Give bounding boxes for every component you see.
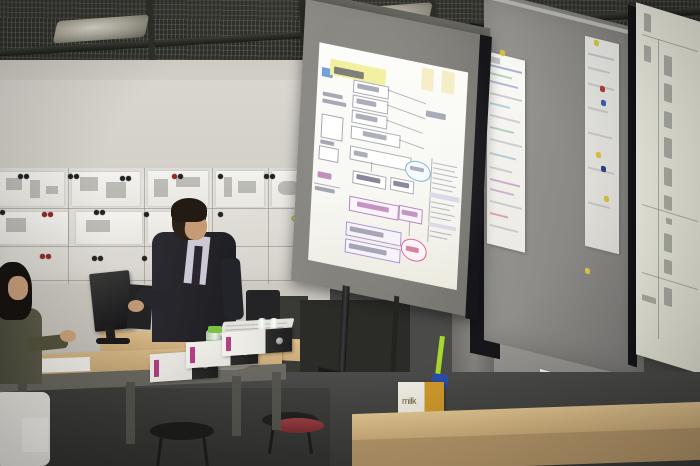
magnet-blue xyxy=(601,99,606,106)
magnet xyxy=(18,174,23,179)
magnet-yellow xyxy=(585,267,590,274)
magnet xyxy=(264,174,269,179)
slide-left-box xyxy=(318,145,339,163)
magnet xyxy=(0,210,5,215)
projection-screen xyxy=(290,0,494,337)
callout-leader xyxy=(408,222,410,236)
magnet xyxy=(68,174,73,179)
presenter-hand xyxy=(128,300,144,312)
magnet xyxy=(218,174,223,179)
seated-participant-face xyxy=(8,276,28,300)
magnet xyxy=(24,174,29,179)
table-row xyxy=(430,230,452,235)
desk-leg xyxy=(232,376,241,436)
magnet xyxy=(94,210,99,215)
slide-left-label xyxy=(322,98,346,107)
slide-card xyxy=(441,70,455,95)
magnet xyxy=(100,210,105,215)
desk-leg xyxy=(126,382,135,444)
magnet-blue xyxy=(601,165,606,172)
magnet-yellow xyxy=(604,195,609,202)
magnet xyxy=(126,176,131,181)
presenter-hair xyxy=(171,198,207,222)
storyboard-sheet xyxy=(216,171,264,207)
magnet xyxy=(48,212,53,217)
table-row xyxy=(431,206,450,211)
slide-flow-box xyxy=(349,145,411,171)
binder-label xyxy=(226,337,231,351)
magnet xyxy=(42,212,47,217)
slide-card xyxy=(421,67,434,91)
magnet xyxy=(46,254,51,259)
schedule-chart-sheet xyxy=(487,51,525,252)
magnet-red xyxy=(600,85,605,92)
magnet xyxy=(218,212,223,217)
presenter-arm-right xyxy=(220,257,244,320)
seated-participant-hand xyxy=(60,330,76,342)
table-row xyxy=(432,187,453,192)
magnet xyxy=(98,256,103,261)
slide-number-label xyxy=(426,110,446,120)
table-row xyxy=(430,216,450,221)
storyboard-sheet xyxy=(0,172,64,206)
magnet xyxy=(142,256,147,261)
slide-connector xyxy=(386,104,425,119)
slide-arrow-vertical xyxy=(371,162,373,172)
monitor-base xyxy=(96,338,130,344)
projected-slide xyxy=(308,42,468,290)
slide-connector xyxy=(399,139,424,149)
magnet-yellow xyxy=(594,39,599,46)
binder-ring xyxy=(276,337,283,344)
slide-connector xyxy=(387,89,426,104)
slide-left-label xyxy=(317,171,331,180)
storyboard-sheet xyxy=(76,212,142,244)
binder-label xyxy=(190,347,195,363)
magnet xyxy=(120,176,125,181)
second-projection-screen xyxy=(636,2,700,374)
magnet xyxy=(178,174,183,179)
table-row xyxy=(433,177,453,182)
magnet xyxy=(92,256,97,261)
magnet xyxy=(172,174,177,179)
magnet-yellow xyxy=(500,49,505,56)
magnet xyxy=(270,174,275,179)
table-row xyxy=(429,235,447,240)
desk-leg xyxy=(272,372,281,430)
box-label-text: milk xyxy=(402,397,428,406)
table-row xyxy=(433,167,455,172)
slide-left-box xyxy=(321,113,344,141)
storyboard-sheet xyxy=(0,212,68,244)
slide-connector xyxy=(386,119,423,133)
foreground-paper xyxy=(22,418,48,452)
magnet-yellow xyxy=(596,151,601,158)
bottle-cap xyxy=(208,326,222,333)
binder-label xyxy=(154,360,159,377)
document-sheet xyxy=(585,36,619,254)
magnet xyxy=(40,254,45,259)
ring-binder xyxy=(222,328,292,357)
magnet xyxy=(74,174,79,179)
photo-scene: milk xyxy=(0,0,700,466)
magnet xyxy=(144,212,149,217)
